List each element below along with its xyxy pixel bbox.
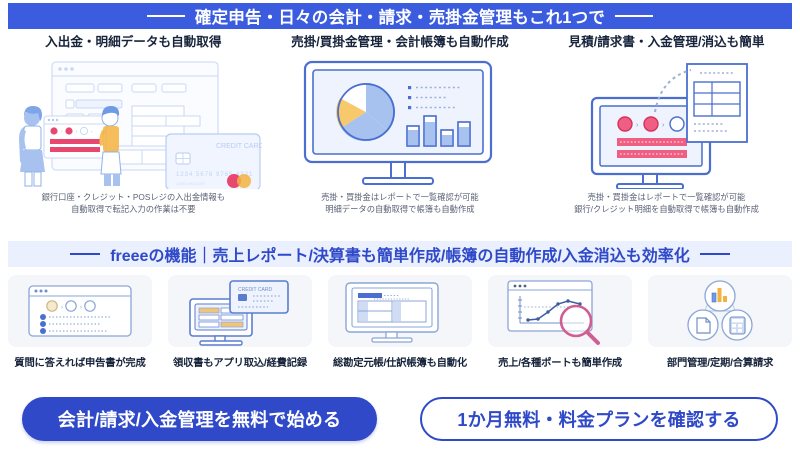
feature-caption: 売上/各種ポートも簡単作成 bbox=[498, 354, 622, 369]
three-circles-chart-doc-calculator-icon bbox=[648, 275, 792, 347]
banner-rule-left bbox=[147, 15, 185, 17]
header-banner: 確定申告・日々の会計・請求・売掛金管理もこれ1つで bbox=[8, 3, 792, 29]
feature-columns: 入出金・明細データも自動取得 bbox=[0, 33, 800, 233]
feature-caption: 部門管理/定期/合算請求 bbox=[667, 354, 773, 369]
monitor-ledger-table-icon bbox=[328, 275, 472, 347]
midbar-rule-right bbox=[700, 253, 730, 256]
promo-page: 確定申告・日々の会計・請求・売掛金管理もこれ1つで 入出金・明細データも自動取得 bbox=[0, 0, 800, 449]
feature-ledger: 総勘定元帳/仕訳帳簿も自動化 bbox=[320, 275, 480, 385]
feature-reports: 売上/各種ポートも簡単作成 bbox=[480, 275, 640, 385]
feature-receipts: CREDIT CARD 領収書もアプリ取込/経費記録 bbox=[160, 275, 320, 385]
people-browser-creditcard-illustration: › › › bbox=[4, 54, 262, 189]
monitor-pie-bar-chart-illustration bbox=[271, 54, 529, 189]
column-title: 売掛/買掛金管理・会計帳簿も自動作成 bbox=[291, 34, 509, 50]
svg-text:›: › bbox=[61, 305, 63, 311]
credit-card-title: CREDIT CARD bbox=[216, 143, 262, 150]
column-title: 見積/請求書・入金管理/消込も簡単 bbox=[569, 34, 765, 50]
cta-row: 会計/請求/入金管理を無料で始める 1か月無料・料金プランを確認する bbox=[0, 393, 800, 445]
svg-text:CARD HOLDER: CARD HOLDER bbox=[176, 181, 205, 186]
feature-departments: 部門管理/定期/合算請求 bbox=[640, 275, 800, 385]
monitor-creditcard-icon: CREDIT CARD bbox=[168, 275, 312, 347]
column-invoices: 見積/請求書・入金管理/消込も簡単 › › bbox=[533, 33, 800, 233]
feature-caption: 領収書もアプリ取込/経費記録 bbox=[173, 354, 307, 369]
check-pricing-button[interactable]: 1か月無料・料金プランを確認する bbox=[420, 397, 778, 441]
browser-checklist-steps-icon: › › bbox=[8, 275, 152, 347]
start-free-button[interactable]: 会計/請求/入金管理を無料で始める bbox=[22, 397, 377, 441]
svg-text:›: › bbox=[80, 305, 82, 311]
feature-tax-return: › › 質問に答えれば申告書が完成 bbox=[0, 275, 160, 385]
monitor-workflow-document-illustration: › › bbox=[537, 54, 795, 189]
column-payables: 売掛/買掛金管理・会計帳簿も自動作成 bbox=[267, 33, 534, 233]
svg-text:CREDIT CARD: CREDIT CARD bbox=[238, 287, 272, 293]
column-caption: 銀行口座・クレジット・POSレジの入出金情報も 自動取得で転記入力の作業は不要 bbox=[42, 191, 225, 215]
feature-icons-row: › › 質問に答えれば申告書が完成 bbox=[0, 275, 800, 385]
column-caption: 売掛・買掛金はレポートで一覧確認が可能 明細データの自動取得で帳簿も自動作成 bbox=[321, 191, 479, 215]
features-banner: freeeの機能｜売上レポート/決算書も簡単作成/帳簿の自動作成/入金消込も効率… bbox=[8, 241, 792, 267]
column-title: 入出金・明細データも自動取得 bbox=[45, 34, 221, 50]
features-banner-title: freeeの機能｜売上レポート/決算書も簡単作成/帳簿の自動作成/入金消込も効率… bbox=[110, 242, 690, 266]
header-title: 確定申告・日々の会計・請求・売掛金管理もこれ1つで bbox=[195, 4, 605, 28]
browser-linechart-magnifier-icon bbox=[488, 275, 632, 347]
feature-caption: 総勘定元帳/仕訳帳簿も自動化 bbox=[333, 354, 467, 369]
column-deposits: 入出金・明細データも自動取得 bbox=[0, 33, 267, 233]
feature-caption: 質問に答えれば申告書が完成 bbox=[14, 354, 145, 369]
column-caption: 売掛・買掛金はレポートで一覧確認が可能 銀行/クレジット明細を自動取得で帳簿も自… bbox=[574, 191, 759, 215]
banner-rule-right bbox=[615, 15, 653, 17]
midbar-rule-left bbox=[70, 253, 100, 256]
